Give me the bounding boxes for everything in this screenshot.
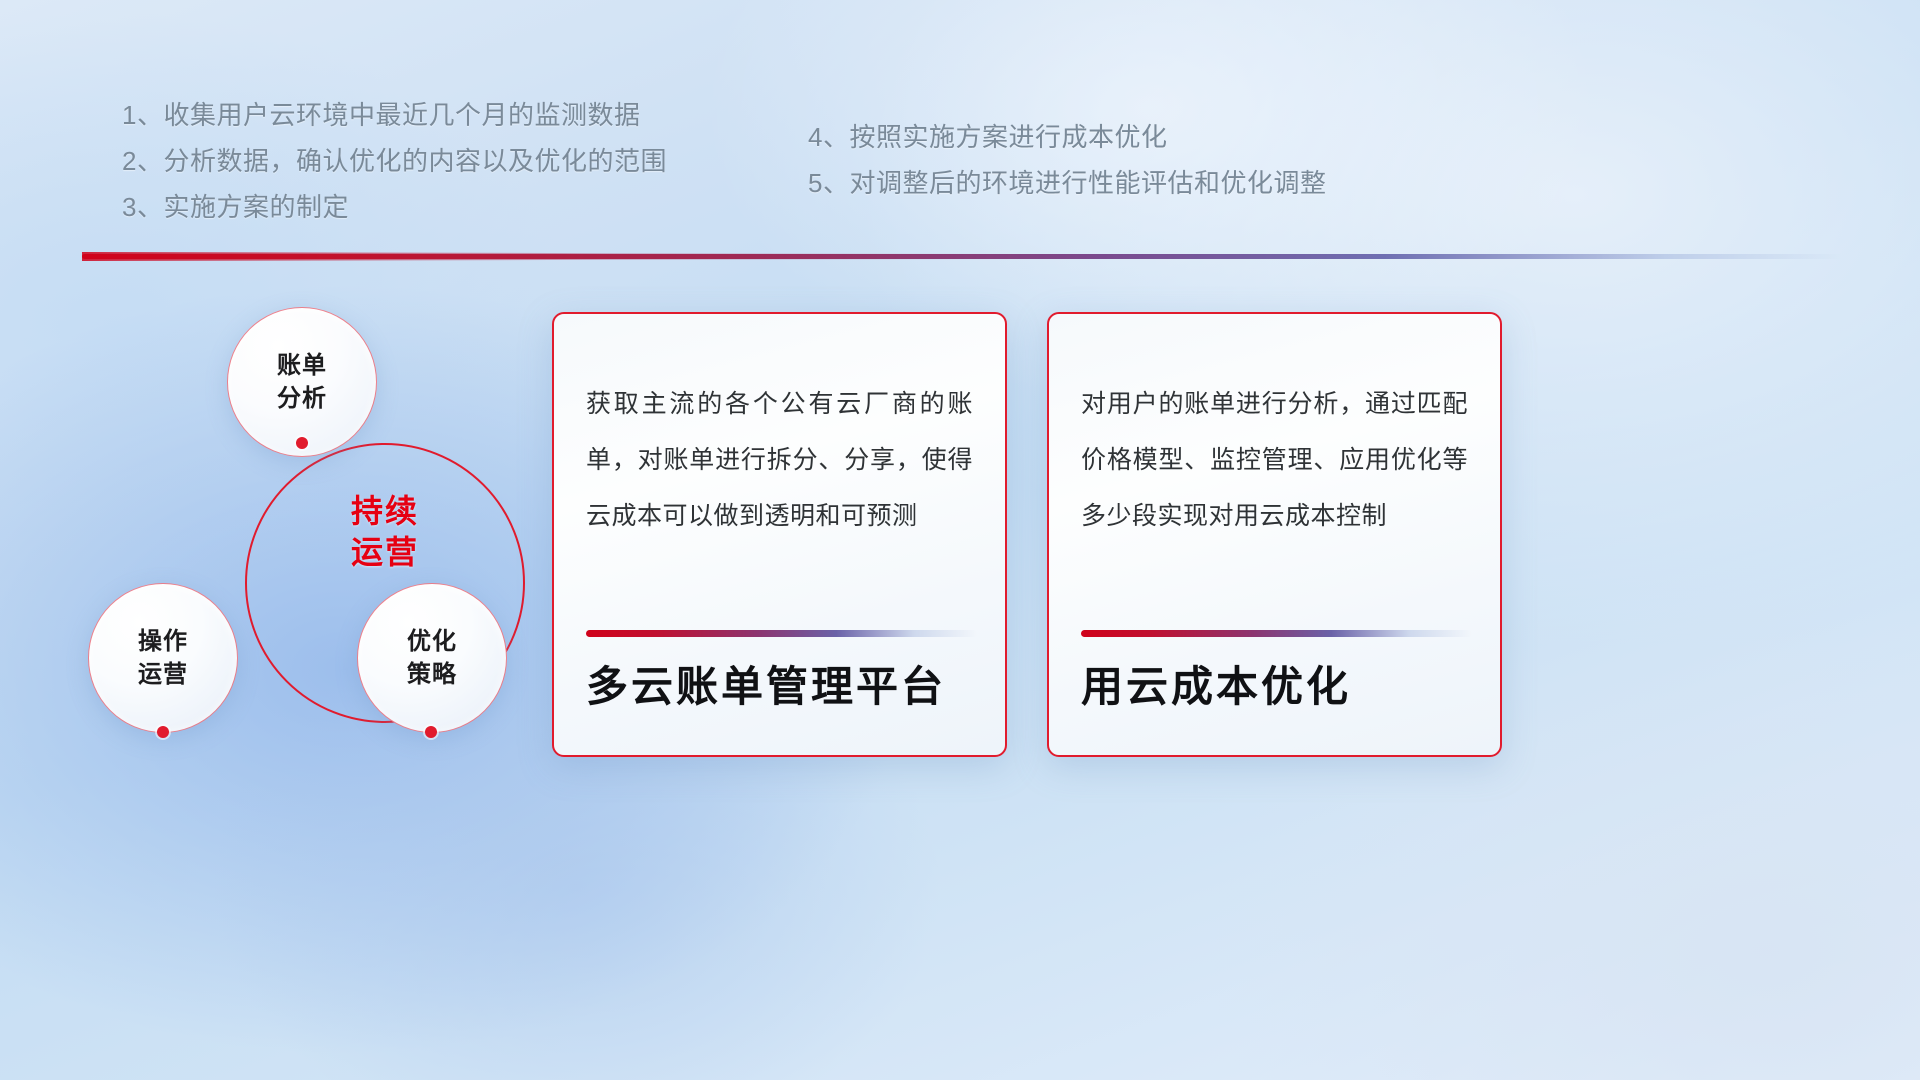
- cycle-node-label-line-1: 操作: [138, 625, 188, 658]
- feature-card-body: 获取主流的各个公有云厂商的账单，对账单进行拆分、分享，使得云成本可以做到透明和可…: [586, 376, 973, 544]
- section-divider: [82, 252, 1842, 262]
- steps-section: 1、收集用户云环境中最近几个月的监测数据 2、分析数据，确认优化的内容以及优化的…: [0, 92, 1920, 242]
- cycle-node-label-line-1: 账单: [277, 349, 327, 382]
- feature-card-multicloud-billing[interactable]: 获取主流的各个公有云厂商的账单，对账单进行拆分、分享，使得云成本可以做到透明和可…: [552, 312, 1007, 757]
- cycle-center-label: 持续 运营: [245, 491, 525, 573]
- step-item-1: 1、收集用户云环境中最近几个月的监测数据: [122, 92, 667, 138]
- feature-cards: 获取主流的各个公有云厂商的账单，对账单进行拆分、分享，使得云成本可以做到透明和可…: [552, 312, 1502, 757]
- step-item-2: 2、分析数据，确认优化的内容以及优化的范围: [122, 138, 667, 184]
- feature-card-divider: [1081, 630, 1472, 637]
- feature-card-title: 用云成本优化: [1081, 659, 1351, 715]
- cycle-node-label-line-2: 策略: [407, 658, 457, 691]
- cycle-center-line-2: 运营: [245, 532, 525, 573]
- cycle-node-optimization-strategy[interactable]: 优化 策略: [357, 583, 507, 733]
- cycle-node-label-line-1: 优化: [407, 625, 457, 658]
- step-item-3: 3、实施方案的制定: [122, 184, 667, 230]
- step-item-4: 4、按照实施方案进行成本优化: [808, 114, 1326, 160]
- cycle-marker-dot-bottom-right: [425, 726, 437, 738]
- cycle-node-label-line-2: 运营: [138, 658, 188, 691]
- steps-column-left: 1、收集用户云环境中最近几个月的监测数据 2、分析数据，确认优化的内容以及优化的…: [122, 92, 667, 230]
- cycle-node-billing-analysis[interactable]: 账单 分析: [227, 307, 377, 457]
- step-item-5: 5、对调整后的环境进行性能评估和优化调整: [808, 160, 1326, 206]
- feature-card-title: 多云账单管理平台: [586, 659, 946, 715]
- cycle-center-line-1: 持续: [245, 491, 525, 532]
- feature-card-cost-optimization[interactable]: 对用户的账单进行分析，通过匹配价格模型、监控管理、应用优化等多少段实现对用云成本…: [1047, 312, 1502, 757]
- steps-column-right: 4、按照实施方案进行成本优化 5、对调整后的环境进行性能评估和优化调整: [808, 114, 1326, 206]
- feature-card-divider: [586, 630, 977, 637]
- cycle-node-label-line-2: 分析: [277, 382, 327, 415]
- operations-cycle-diagram: 持续 运营 账单 分析 操作 运营 优化 策略: [85, 295, 545, 765]
- divider-bar: [82, 254, 1842, 259]
- cycle-marker-dot-bottom-left: [157, 726, 169, 738]
- cycle-node-operations[interactable]: 操作 运营: [88, 583, 238, 733]
- cycle-marker-dot-top: [296, 437, 308, 449]
- feature-card-body: 对用户的账单进行分析，通过匹配价格模型、监控管理、应用优化等多少段实现对用云成本…: [1081, 376, 1468, 544]
